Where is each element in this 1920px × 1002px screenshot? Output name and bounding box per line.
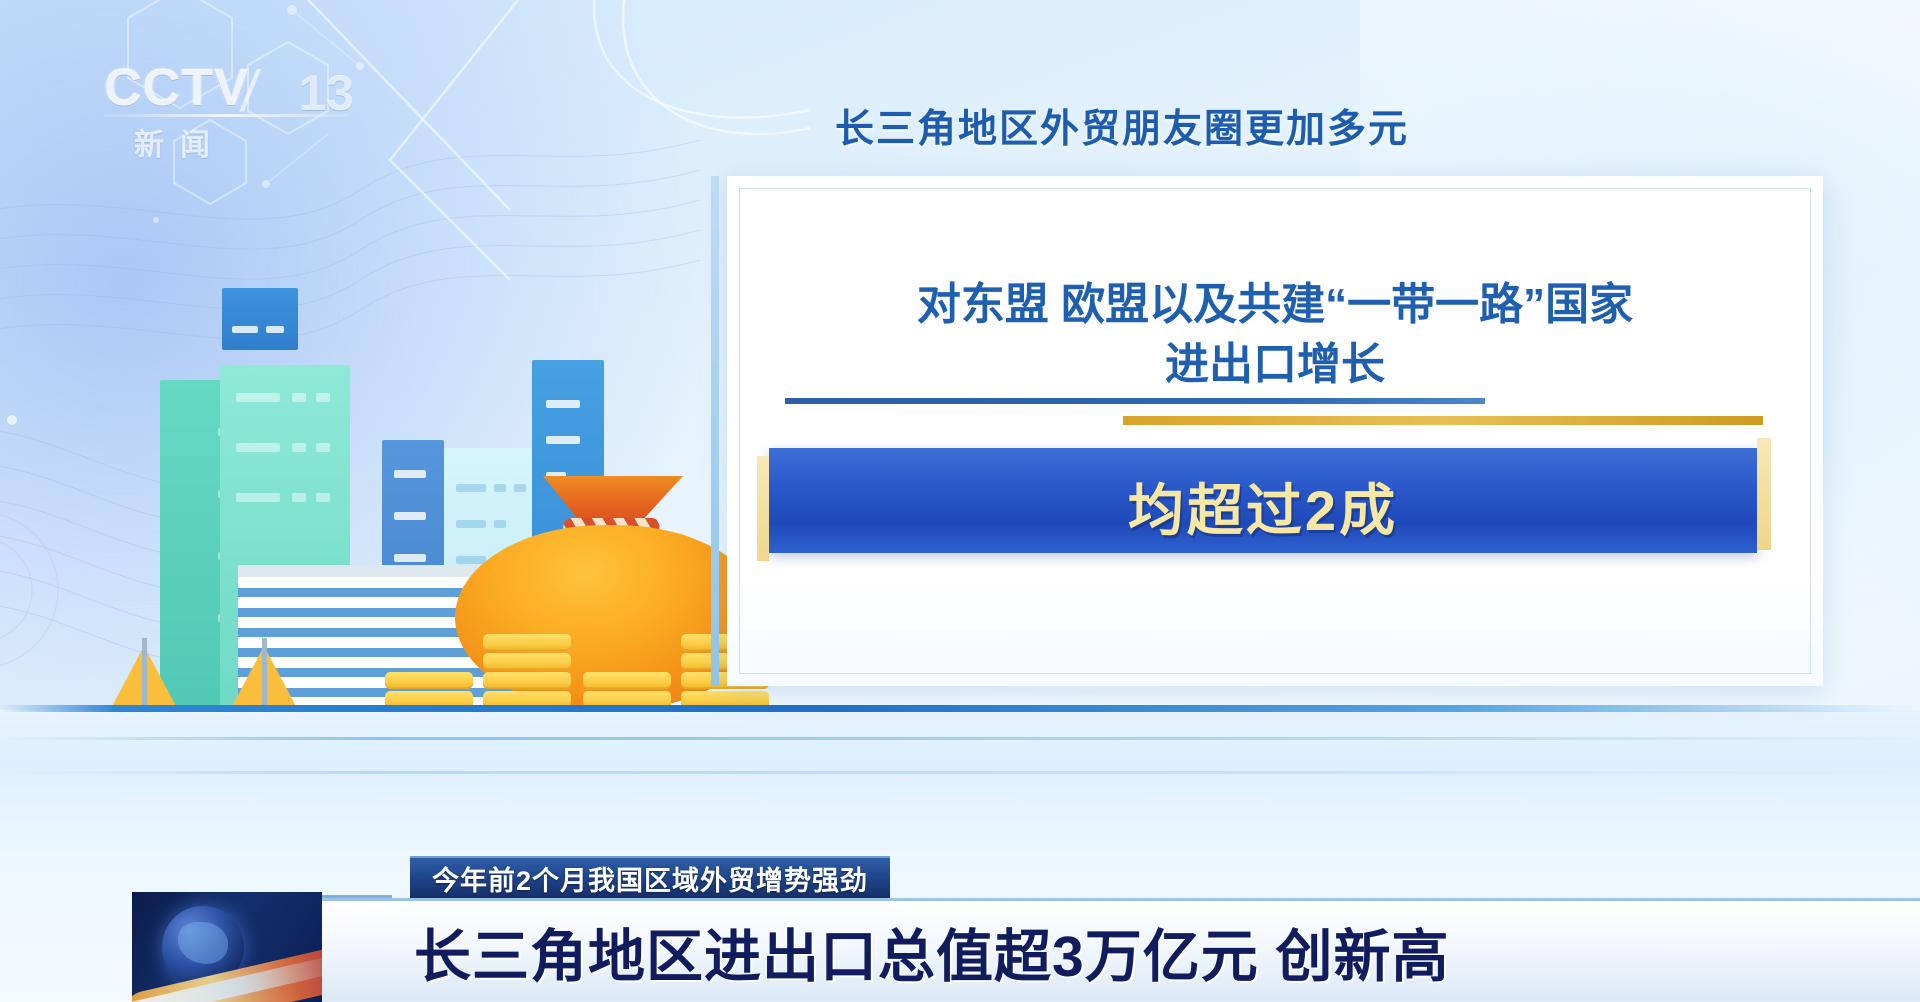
cctv13-news-logo: CCTV / 13 新闻 <box>104 62 354 162</box>
ground-accent-line-secondary <box>0 737 1920 740</box>
lower-third-kicker-text: 今年前2个月我国区域外贸增势强劲 <box>432 859 868 898</box>
lower-third-tick <box>322 895 392 898</box>
card-headline-line2: 进出口增长 <box>727 328 1823 392</box>
flag-pole <box>142 638 147 710</box>
lower-third-headline: 长三角地区进出口总值超3万亿元 创新高 <box>414 911 1450 993</box>
logo-underline <box>104 114 348 117</box>
ground-accent-line-tertiary <box>0 771 1920 774</box>
card-headline-line1: 对东盟 欧盟以及共建“一带一路”国家 <box>727 268 1823 332</box>
flag-right <box>230 646 298 710</box>
logo-news-label: 新闻 <box>134 120 226 164</box>
broadcast-screen: CCTV / 13 新闻 <box>0 0 1920 1002</box>
statistic-card: 对东盟 欧盟以及共建“一带一路”国家 进出口增长 均超过2成 <box>727 176 1823 686</box>
lower-third-kicker-bar: 今年前2个月我国区域外贸增势强劲 <box>410 856 890 898</box>
globe-graphic <box>132 892 322 1002</box>
ground-accent-line <box>0 705 1920 712</box>
graphic-topline: 长三角地区外贸朋友圈更加多元 <box>835 98 1409 154</box>
divider-gold <box>1123 416 1763 425</box>
lower-third: 长三角地区进出口总值超3万亿元 创新高 今年前2个月我国区域外贸增势强劲 <box>0 852 1920 1002</box>
flag-pole <box>262 638 267 710</box>
banner-edge-right <box>1757 438 1771 550</box>
flag-left <box>110 646 178 710</box>
card-inner-border <box>739 188 1811 674</box>
divider-blue <box>785 398 1485 404</box>
lower-third-main-bar: 长三角地区进出口总值超3万亿元 创新高 <box>322 898 1920 1002</box>
coin-stack <box>483 634 571 710</box>
card-left-tab <box>711 176 719 686</box>
highlight-banner: 均超过2成 <box>769 448 1757 553</box>
banner-edge-left <box>757 456 769 561</box>
building-blue-top <box>222 288 298 350</box>
banner-statistic-text: 均超过2成 <box>769 466 1757 547</box>
